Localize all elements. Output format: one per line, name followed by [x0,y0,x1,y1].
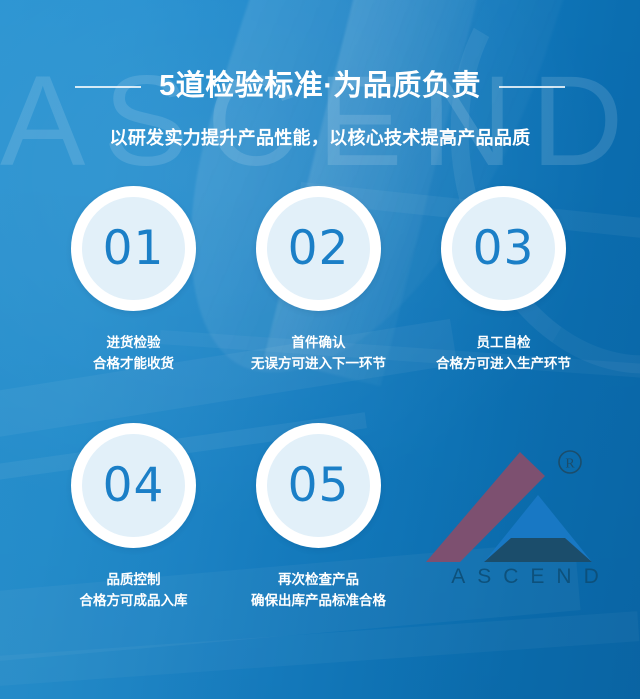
step-caption-line2-02: 无误方可进入下一环节 [251,354,386,375]
step-caption-line2-03: 合格方可进入生产环节 [436,354,571,375]
step-badge-inner-01: 01 [82,197,185,300]
step-badge-inner-02: 02 [267,197,370,300]
background-streak-4 [0,611,639,690]
title-row: 5道检验标准·为品质负责 [0,72,640,101]
step-item-05: 05 再次检查产品 确保出库产品标准合格 [226,423,411,612]
ascend-wordmark: ASCEND [422,565,628,589]
step-number-05: 05 [288,462,350,509]
page-title: 5道检验标准·为品质负责 [159,72,481,101]
step-caption-05: 再次检查产品 确保出库产品标准合格 [251,570,386,612]
step-caption-line2-05: 确保出库产品标准合格 [251,591,386,612]
step-caption-line1-05: 再次检查产品 [251,570,386,591]
step-number-02: 02 [288,225,350,272]
title-rule-right-icon [499,86,565,88]
step-caption-line2-01: 合格才能收货 [93,354,174,375]
registered-mark-letter: R [565,457,575,472]
ascend-logo-mark-icon: R [420,440,630,570]
step-number-04: 04 [103,462,165,509]
step-caption-03: 员工自检 合格方可进入生产环节 [436,333,571,375]
step-caption-01: 进货检验 合格才能收货 [93,333,174,375]
step-item-03: 03 员工自检 合格方可进入生产环节 [411,186,596,375]
step-badge-02: 02 [256,186,381,311]
step-caption-line2-04: 合格方可成品入库 [80,591,188,612]
promo-poster: ASCEND 5道检验标准·为品质负责 以研发实力提升产品性能，以核心技术提高产… [0,0,640,699]
step-badge-inner-03: 03 [452,197,555,300]
page-subtitle: 以研发实力提升产品性能，以核心技术提高产品品质 [0,124,640,150]
logo-base-trapezoid [484,538,592,562]
steps-row-top: 01 进货检验 合格才能收货 02 首件确认 无误方可进入下一环节 [0,186,640,375]
step-caption-line1-02: 首件确认 [251,333,386,354]
step-number-03: 03 [473,225,535,272]
step-item-01: 01 进货检验 合格才能收货 [41,186,226,375]
step-caption-02: 首件确认 无误方可进入下一环节 [251,333,386,375]
step-badge-inner-04: 04 [82,434,185,537]
step-caption-line1-03: 员工自检 [436,333,571,354]
step-caption-line1-04: 品质控制 [80,570,188,591]
step-item-02: 02 首件确认 无误方可进入下一环节 [226,186,411,375]
step-badge-04: 04 [71,423,196,548]
ascend-logo: R ASCEND [420,440,630,590]
step-badge-03: 03 [441,186,566,311]
step-badge-05: 05 [256,423,381,548]
step-caption-line1-01: 进货检验 [93,333,174,354]
step-badge-01: 01 [71,186,196,311]
step-badge-inner-05: 05 [267,434,370,537]
step-item-04: 04 品质控制 合格方可成品入库 [41,423,226,612]
step-number-01: 01 [103,225,165,272]
step-caption-04: 品质控制 合格方可成品入库 [80,570,188,612]
title-rule-left-icon [75,86,141,88]
